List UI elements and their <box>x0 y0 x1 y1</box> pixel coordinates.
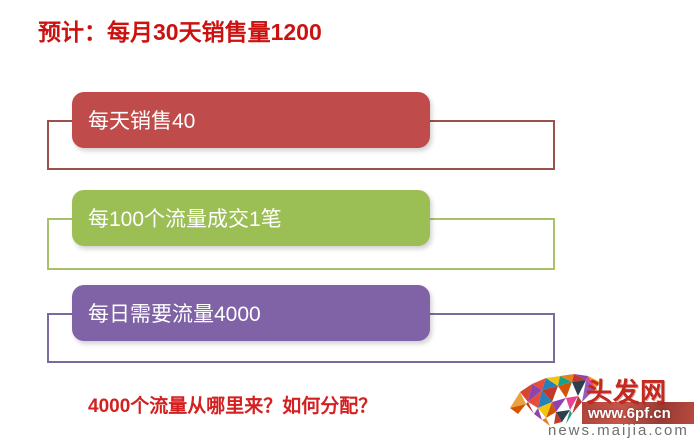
site-watermark-text: news.maijia.com <box>548 422 689 439</box>
footer-question-text: 4000个流量从哪里来？如何分配？ <box>88 391 377 418</box>
callout-label-daily-sales: 每天销售40 <box>88 105 195 135</box>
flow-row-daily-sales: 每天销售40 <box>0 92 694 178</box>
page-title: 预计：每月30天销售量1200 <box>38 17 322 47</box>
callout-box-daily-sales[interactable]: 每天销售40 <box>72 92 430 148</box>
brand-url-text: www.6pf.cn <box>588 405 671 422</box>
brand-name-cn: 头发网 <box>586 372 667 409</box>
callout-label-conversion-rate: 每100个流量成交1笔 <box>88 203 282 233</box>
callout-box-conversion-rate[interactable]: 每100个流量成交1笔 <box>72 190 430 246</box>
watermark-block: 头发网 www.6pf.cn news.maijia.com <box>508 372 694 443</box>
flow-row-daily-traffic: 每日需要流量4000 <box>0 285 694 367</box>
callout-box-daily-traffic[interactable]: 每日需要流量4000 <box>72 285 430 341</box>
flow-row-conversion-rate: 每100个流量成交1笔 <box>0 190 694 276</box>
slide-canvas: 预计：每月30天销售量1200 每天销售40 每100个流量成交1笔 每日需要流… <box>0 0 694 443</box>
callout-label-daily-traffic: 每日需要流量4000 <box>88 298 261 328</box>
